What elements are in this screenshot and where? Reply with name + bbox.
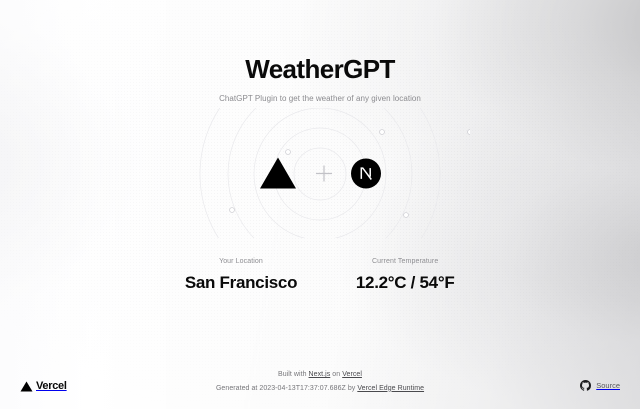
stat-value: San Francisco (185, 273, 297, 293)
page-header: WeatherGPT ChatGPT Plugin to get the wea… (0, 56, 640, 103)
stat-location: Your Location San Francisco (185, 258, 297, 293)
stat-temperature: Current Temperature 12.2°C / 54°F (355, 258, 455, 293)
footer-generated-line: Generated at 2023-04-13T17:37:07.686Z by… (0, 382, 640, 395)
footer-timestamp: 2023-04-13T17:37:07.686Z (259, 385, 345, 392)
vercel-triangle-icon (20, 381, 33, 392)
stats-row: Your Location San Francisco Current Temp… (0, 258, 640, 293)
github-icon (580, 380, 591, 391)
hero-graphic (0, 108, 640, 238)
page-root: WeatherGPT ChatGPT Plugin to get the wea… (0, 0, 640, 409)
stat-value: 12.2°C / 54°F (355, 273, 455, 293)
footer-built-middle: on (330, 371, 342, 378)
ring-marker-dot (380, 130, 385, 135)
ring-marker-dot (468, 130, 470, 135)
ring-marker-dot (404, 213, 409, 218)
nextjs-logo-icon (351, 158, 381, 188)
plus-icon (315, 164, 333, 182)
footer-generated-prefix: Generated at (216, 385, 259, 392)
ring-marker-dot (230, 208, 235, 213)
stat-label: Current Temperature (355, 258, 455, 265)
nextjs-link[interactable]: Next.js (309, 371, 331, 378)
vercel-badge[interactable]: Vercel (20, 380, 67, 392)
source-badge[interactable]: Source (580, 380, 620, 391)
stat-label: Your Location (185, 258, 297, 265)
footer: Built with Next.js on Vercel Generated a… (0, 368, 640, 395)
page-title: WeatherGPT (0, 56, 640, 82)
page-subtitle: ChatGPT Plugin to get the weather of any… (0, 94, 640, 103)
vercel-triangle-icon (259, 157, 297, 190)
ring-marker-dot (286, 150, 291, 155)
vercel-badge-label: Vercel (36, 380, 67, 392)
hero-logo-row (259, 157, 381, 190)
footer-generated-middle: by (346, 385, 357, 392)
vercel-edge-runtime-link[interactable]: Vercel Edge Runtime (357, 385, 424, 392)
footer-built-line: Built with Next.js on Vercel (0, 368, 640, 381)
source-badge-label: Source (596, 381, 620, 390)
vercel-link[interactable]: Vercel (342, 371, 362, 378)
footer-built-prefix: Built with (278, 371, 309, 378)
